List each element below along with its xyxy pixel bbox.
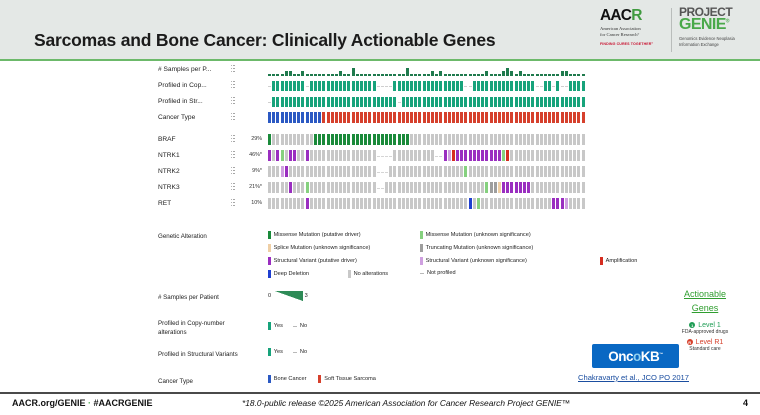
- oncoprint-cell[interactable]: [393, 198, 396, 209]
- oncoprint-cell[interactable]: [481, 74, 484, 76]
- oncoprint-cell[interactable]: [381, 172, 384, 173]
- oncoprint-cell[interactable]: [494, 97, 497, 107]
- oncoprint-cell[interactable]: [498, 112, 501, 123]
- oncoprint-cell[interactable]: [285, 134, 288, 145]
- oncoprint-cell[interactable]: [406, 68, 409, 76]
- oncoprint-cell[interactable]: [335, 198, 338, 209]
- oncoprint-cell[interactable]: [569, 150, 572, 161]
- oncoprint-cell[interactable]: [293, 81, 296, 91]
- oncoprint-cell[interactable]: [356, 198, 359, 209]
- oncoprint-cell[interactable]: [490, 74, 493, 76]
- oncoprint-cell[interactable]: [318, 182, 321, 193]
- oncoprint-cell[interactable]: [347, 74, 350, 76]
- oncoprint-cell[interactable]: [506, 112, 509, 123]
- oncoprint-cell[interactable]: [448, 134, 451, 145]
- oncoprint-cell[interactable]: [506, 166, 509, 177]
- oncoprint-cell[interactable]: [293, 74, 296, 76]
- oncoprint-cell[interactable]: [360, 112, 363, 123]
- oncoprint-cell[interactable]: [515, 134, 518, 145]
- oncoprint-cell[interactable]: [427, 182, 430, 193]
- oncoprint-cell[interactable]: [494, 150, 497, 161]
- oncoprint-cell[interactable]: [423, 198, 426, 209]
- oncoprint-cell[interactable]: [335, 74, 338, 76]
- oncoprint-cell[interactable]: [431, 166, 434, 177]
- oncoprint-cell[interactable]: [506, 81, 509, 91]
- oncoprint-cell[interactable]: [506, 68, 509, 76]
- oncoprint-cell[interactable]: [485, 182, 488, 193]
- oncoprint-cell[interactable]: [339, 71, 342, 76]
- oncoprint-cell[interactable]: [573, 150, 576, 161]
- oncoprint-cell[interactable]: [427, 74, 430, 76]
- drag-handle-icon[interactable]: [231, 199, 235, 208]
- oncoprint-cell[interactable]: [464, 74, 467, 76]
- oncoprint-cell[interactable]: [381, 112, 384, 123]
- drag-handle-icon[interactable]: [231, 135, 235, 144]
- oncoprint-cell[interactable]: [314, 74, 317, 76]
- oncoprint-cell[interactable]: [281, 112, 284, 123]
- oncoprint-cell[interactable]: [573, 166, 576, 177]
- oncoprint-cell[interactable]: [548, 150, 551, 161]
- oncoprint-cell[interactable]: [456, 166, 459, 177]
- oncoprint-cell[interactable]: [414, 112, 417, 123]
- oncoprint-cell[interactable]: [498, 182, 501, 193]
- oncoprint-cell[interactable]: [527, 166, 530, 177]
- oncoprint-cell[interactable]: [389, 97, 392, 107]
- oncoprint-cell[interactable]: [339, 112, 342, 123]
- oncoprint-cell[interactable]: [556, 166, 559, 177]
- oncoprint-cell[interactable]: [373, 182, 376, 193]
- gene-row-ntrk3-label[interactable]: NTRK3: [158, 184, 180, 191]
- oncoprint-cell[interactable]: [561, 134, 564, 145]
- oncoprint-cell[interactable]: [318, 134, 321, 145]
- oncoprint-cell[interactable]: [327, 150, 330, 161]
- oncoprint-cell[interactable]: [347, 112, 350, 123]
- oncoprint-cell[interactable]: [377, 134, 380, 145]
- oncoprint-cell[interactable]: [414, 166, 417, 177]
- oncoprint-cell[interactable]: [398, 134, 401, 145]
- oncoprint-cell[interactable]: [452, 182, 455, 193]
- oncoprint-cell[interactable]: [385, 156, 388, 157]
- oncoprint-cell[interactable]: [552, 112, 555, 123]
- oncoprint-cell[interactable]: [544, 134, 547, 145]
- oncoprint-cell[interactable]: [410, 112, 413, 123]
- oncoprint-cell[interactable]: [268, 74, 271, 76]
- oncoprint-cell[interactable]: [577, 134, 580, 145]
- oncoprint-cell[interactable]: [402, 182, 405, 193]
- oncoprint-cell[interactable]: [331, 74, 334, 76]
- oncoprint-cell[interactable]: [402, 74, 405, 76]
- oncoprint-cell[interactable]: [373, 112, 376, 123]
- oncoprint-cell[interactable]: [469, 86, 472, 87]
- oncoprint-cell[interactable]: [314, 182, 317, 193]
- legend-item[interactable]: Splice Mutation (unknown significance): [268, 244, 370, 252]
- oncoprint-cell[interactable]: [373, 150, 376, 161]
- oncoprint-cell[interactable]: [322, 134, 325, 145]
- oncoprint-cell[interactable]: [540, 182, 543, 193]
- oncoprint-cell[interactable]: [469, 166, 472, 177]
- oncoprint-cell[interactable]: [531, 97, 534, 107]
- oncoprint-cell[interactable]: [377, 86, 380, 87]
- oncoprint-cell[interactable]: [448, 81, 451, 91]
- oncoprint-cell[interactable]: [281, 182, 284, 193]
- oncoprint-cell[interactable]: [322, 112, 325, 123]
- oncoprint-cell[interactable]: [272, 74, 275, 76]
- oncoprint-cell[interactable]: [297, 134, 300, 145]
- oncoprint-cell[interactable]: [565, 134, 568, 145]
- oncoprint-cell[interactable]: [452, 81, 455, 91]
- oncoprint-cell[interactable]: [573, 97, 576, 107]
- oncoprint-cell[interactable]: [293, 112, 296, 123]
- oncoprint-cell[interactable]: [552, 134, 555, 145]
- oncoprint-cell[interactable]: [331, 112, 334, 123]
- oncoprint-cell[interactable]: [285, 112, 288, 123]
- oncoprint-cell[interactable]: [423, 182, 426, 193]
- oncoprint-cell[interactable]: [448, 182, 451, 193]
- oncoprint-cell[interactable]: [561, 71, 564, 76]
- oncoprint-cell[interactable]: [531, 134, 534, 145]
- oncoprint-cell[interactable]: [548, 112, 551, 123]
- oncoprint-cell[interactable]: [272, 182, 275, 193]
- oncoprint-cell[interactable]: [398, 182, 401, 193]
- oncoprint-cell[interactable]: [306, 150, 309, 161]
- oncoprint-cell[interactable]: [473, 182, 476, 193]
- oncoprint-cell[interactable]: [431, 97, 434, 107]
- oncoprint-cell[interactable]: [360, 198, 363, 209]
- oncoprint-cell[interactable]: [301, 97, 304, 107]
- oncoprint-cell[interactable]: [343, 150, 346, 161]
- oncoprint-cell[interactable]: [494, 182, 497, 193]
- oncoprint-cell[interactable]: [289, 134, 292, 145]
- oncoprint-cell[interactable]: [456, 134, 459, 145]
- oncoprint-cell[interactable]: [414, 182, 417, 193]
- oncoprint-cell[interactable]: [398, 150, 401, 161]
- oncoprint-cell[interactable]: [498, 150, 501, 161]
- oncoprint-cell[interactable]: [393, 182, 396, 193]
- oncoprint-cell[interactable]: [356, 112, 359, 123]
- oncoprint-cell[interactable]: [452, 97, 455, 107]
- drag-handle-icon[interactable]: [231, 81, 235, 90]
- oncoprint-cell[interactable]: [410, 81, 413, 91]
- oncoprint-cell[interactable]: [335, 97, 338, 107]
- oncoprint-cell[interactable]: [540, 97, 543, 107]
- oncoprint-cell[interactable]: [423, 150, 426, 161]
- oncoprint-cell[interactable]: [381, 188, 384, 189]
- oncoprint-cell[interactable]: [498, 74, 501, 76]
- oncoprint-cell[interactable]: [577, 166, 580, 177]
- oncoprint-cell[interactable]: [494, 198, 497, 209]
- oncoprint-cell[interactable]: [377, 156, 380, 157]
- oncoprint-cell[interactable]: [268, 112, 271, 123]
- oncoprint-cell[interactable]: [477, 182, 480, 193]
- oncoprint-cell[interactable]: [373, 97, 376, 107]
- oncoprint-cell[interactable]: [281, 81, 284, 91]
- oncoprint-cell[interactable]: [577, 81, 580, 91]
- oncoprint-cell[interactable]: [335, 112, 338, 123]
- oncoprint-cell[interactable]: [301, 150, 304, 161]
- oncoprint-cell[interactable]: [423, 166, 426, 177]
- oncoprint-cell[interactable]: [456, 74, 459, 76]
- oncoprint-cell[interactable]: [490, 112, 493, 123]
- oncoprint-cell[interactable]: [393, 134, 396, 145]
- oncoprint-cell[interactable]: [389, 134, 392, 145]
- oncoprint-cell[interactable]: [393, 150, 396, 161]
- gene-row-ret-cells[interactable]: [268, 196, 586, 210]
- oncoprint-cell[interactable]: [314, 150, 317, 161]
- oncoprint-cell[interactable]: [569, 166, 572, 177]
- oncoprint-cell[interactable]: [548, 74, 551, 76]
- oncoprint-cell[interactable]: [490, 81, 493, 91]
- oncoprint-cell[interactable]: [314, 97, 317, 107]
- oncoprint-cell[interactable]: [536, 74, 539, 76]
- oncoprint-cell[interactable]: [456, 198, 459, 209]
- oncoprint-cell[interactable]: [310, 198, 313, 209]
- oncoprint-cell[interactable]: [318, 74, 321, 76]
- oncoprint-cell[interactable]: [494, 134, 497, 145]
- oncoprint-cell[interactable]: [556, 134, 559, 145]
- oncoprint-cell[interactable]: [402, 198, 405, 209]
- oncoprint-cell[interactable]: [352, 150, 355, 161]
- oncoprint-cell[interactable]: [297, 74, 300, 76]
- oncoprint-cell[interactable]: [418, 182, 421, 193]
- oncoprint-cell[interactable]: [577, 112, 580, 123]
- legend-item[interactable]: Missense Mutation (unknown significance): [420, 231, 531, 239]
- oncoprint-cell[interactable]: [548, 182, 551, 193]
- oncoprint-cell[interactable]: [306, 198, 309, 209]
- oncoprint-cell[interactable]: [544, 97, 547, 107]
- oncoprint-cell[interactable]: [318, 166, 321, 177]
- legend-item[interactable]: Truncating Mutation (unknown significanc…: [420, 244, 533, 252]
- oncoprint-cell[interactable]: [439, 156, 442, 157]
- oncoprint-cell[interactable]: [435, 182, 438, 193]
- oncoprint-cell[interactable]: [318, 81, 321, 91]
- oncoprint-cell[interactable]: [540, 166, 543, 177]
- oncoprint-cell[interactable]: [347, 134, 350, 145]
- oncoprint-cell[interactable]: [577, 198, 580, 209]
- oncoprint-cell[interactable]: [573, 81, 576, 91]
- oncoprint-cell[interactable]: [527, 150, 530, 161]
- oncoprint-cell[interactable]: [398, 112, 401, 123]
- oncoprint-cell[interactable]: [310, 134, 313, 145]
- oncoprint-cell[interactable]: [573, 134, 576, 145]
- oncoprint-cell[interactable]: [448, 97, 451, 107]
- oncoprint-cell[interactable]: [285, 71, 288, 76]
- oncoprint-cell[interactable]: [565, 71, 568, 76]
- oncoprint-cell[interactable]: [281, 134, 284, 145]
- oncoprint-cell[interactable]: [356, 182, 359, 193]
- oncoprint-cell[interactable]: [460, 182, 463, 193]
- oncoprint-cell[interactable]: [285, 166, 288, 177]
- oncoprint-cell[interactable]: [506, 134, 509, 145]
- oncoprint-cell[interactable]: [343, 134, 346, 145]
- oncokb-logo[interactable]: OncoKB™: [592, 344, 679, 368]
- oncoprint-cell[interactable]: [473, 97, 476, 107]
- oncoprint-cell[interactable]: [293, 134, 296, 145]
- oncoprint-cell[interactable]: [523, 81, 526, 91]
- legend-item[interactable]: Amplification: [600, 257, 637, 265]
- oncoprint-cell[interactable]: [510, 134, 513, 145]
- oncoprint-cell[interactable]: [435, 198, 438, 209]
- oncoprint-cell[interactable]: [368, 97, 371, 107]
- oncoprint-cell[interactable]: [418, 112, 421, 123]
- oncoprint-cell[interactable]: [297, 81, 300, 91]
- oncoprint-cell[interactable]: [469, 198, 472, 209]
- oncoprint-cell[interactable]: [565, 86, 568, 87]
- oncoprint-cell[interactable]: [293, 182, 296, 193]
- oncoprint-cell[interactable]: [339, 166, 342, 177]
- oncoprint-cell[interactable]: [406, 182, 409, 193]
- oncoprint-cell[interactable]: [473, 112, 476, 123]
- oncoprint-cell[interactable]: [519, 71, 522, 76]
- oncoprint-cell[interactable]: [385, 198, 388, 209]
- oncoprint-cell[interactable]: [556, 198, 559, 209]
- oncoprint-cell[interactable]: [360, 182, 363, 193]
- oncoprint-cell[interactable]: [285, 150, 288, 161]
- oncoprint-cell[interactable]: [469, 134, 472, 145]
- oncoprint-cell[interactable]: [368, 134, 371, 145]
- oncoprint-cell[interactable]: [548, 97, 551, 107]
- oncoprint-cell[interactable]: [373, 74, 376, 76]
- oncoprint-cell[interactable]: [435, 74, 438, 76]
- oncoprint-cell[interactable]: [393, 74, 396, 76]
- oncoprint-cell[interactable]: [531, 182, 534, 193]
- oncoprint-cell[interactable]: [561, 112, 564, 123]
- oncoprint-cell[interactable]: [515, 182, 518, 193]
- oncoprint-cell[interactable]: [565, 112, 568, 123]
- oncoprint-cell[interactable]: [364, 97, 367, 107]
- oncoprint-cell[interactable]: [402, 112, 405, 123]
- oncoprint-cell[interactable]: [519, 150, 522, 161]
- oncoprint-cell[interactable]: [556, 97, 559, 107]
- oncoprint-cell[interactable]: [427, 134, 430, 145]
- oncoprint-cell[interactable]: [502, 150, 505, 161]
- oncoprint-cell[interactable]: [452, 112, 455, 123]
- oncoprint-cell[interactable]: [481, 182, 484, 193]
- oncoprint-cell[interactable]: [439, 182, 442, 193]
- oncoprint-cell[interactable]: [381, 97, 384, 107]
- footer-hashtag[interactable]: #AACRGENIE: [94, 398, 153, 408]
- oncoprint-cell[interactable]: [327, 97, 330, 107]
- oncoprint-cell[interactable]: [473, 166, 476, 177]
- oncoprint-cell[interactable]: [569, 198, 572, 209]
- oncoprint-cell[interactable]: [527, 81, 530, 91]
- oncoprint-cell[interactable]: [481, 134, 484, 145]
- oncoprint-cell[interactable]: [377, 97, 380, 107]
- oncoprint-cell[interactable]: [444, 182, 447, 193]
- oncoprint-cell[interactable]: [498, 81, 501, 91]
- oncoprint-cell[interactable]: [306, 74, 309, 76]
- oncoprint-cell[interactable]: [582, 166, 585, 177]
- oncoprint-cell[interactable]: [502, 97, 505, 107]
- oncoprint-cell[interactable]: [301, 166, 304, 177]
- oncoprint-cell[interactable]: [322, 81, 325, 91]
- oncoprint-cell[interactable]: [268, 86, 271, 87]
- oncoprint-cell[interactable]: [519, 166, 522, 177]
- oncoprint-cell[interactable]: [289, 71, 292, 76]
- oncoprint-cell[interactable]: [565, 166, 568, 177]
- oncoprint-cell[interactable]: [398, 102, 401, 103]
- oncoprint-cell[interactable]: [448, 74, 451, 76]
- oncoprint-cell[interactable]: [339, 150, 342, 161]
- oncoprint-cell[interactable]: [272, 134, 275, 145]
- oncoprint-cell[interactable]: [423, 112, 426, 123]
- oncoprint-cell[interactable]: [448, 112, 451, 123]
- oncoprint-cell[interactable]: [272, 166, 275, 177]
- oncoprint-cell[interactable]: [373, 198, 376, 209]
- oncoprint-cell[interactable]: [427, 81, 430, 91]
- oncoprint-cell[interactable]: [327, 81, 330, 91]
- oncoprint-cell[interactable]: [473, 134, 476, 145]
- oncoprint-cell[interactable]: [410, 198, 413, 209]
- oncoprint-cell[interactable]: [389, 112, 392, 123]
- oncoprint-cell[interactable]: [536, 112, 539, 123]
- oncoprint-cell[interactable]: [502, 81, 505, 91]
- oncoprint-cell[interactable]: [481, 112, 484, 123]
- oncoprint-cell[interactable]: [577, 182, 580, 193]
- gene-row-ret-label[interactable]: RET: [158, 200, 171, 207]
- oncoprint-cell[interactable]: [460, 97, 463, 107]
- oncoprint-cell[interactable]: [510, 81, 513, 91]
- oncoprint-cell[interactable]: [398, 198, 401, 209]
- oncoprint-cell[interactable]: [582, 97, 585, 107]
- oncoprint-cell[interactable]: [393, 97, 396, 107]
- oncoprint-cell[interactable]: [460, 81, 463, 91]
- oncoprint-cell[interactable]: [272, 97, 275, 107]
- track-cancer-type-label[interactable]: Cancer Type: [158, 114, 195, 121]
- oncoprint-cell[interactable]: [322, 182, 325, 193]
- oncoprint-cell[interactable]: [281, 150, 284, 161]
- oncoprint-cell[interactable]: [268, 182, 271, 193]
- oncoprint-cell[interactable]: [289, 112, 292, 123]
- profiled-sv-legend-values[interactable]: YesNo: [268, 348, 307, 356]
- oncoprint-cell[interactable]: [435, 156, 438, 157]
- oncoprint-cell[interactable]: [427, 166, 430, 177]
- oncoprint-cell[interactable]: [460, 166, 463, 177]
- oncoprint-cell[interactable]: [452, 166, 455, 177]
- oncoprint-cell[interactable]: [515, 74, 518, 76]
- oncoprint-cell[interactable]: [347, 182, 350, 193]
- oncoprint-cell[interactable]: [368, 182, 371, 193]
- oncoprint-cell[interactable]: [364, 150, 367, 161]
- oncoprint-cell[interactable]: [297, 150, 300, 161]
- oncoprint-cell[interactable]: [502, 198, 505, 209]
- oncoprint-cell[interactable]: [339, 81, 342, 91]
- oncoprint-cell[interactable]: [582, 182, 585, 193]
- oncoprint-cell[interactable]: [414, 150, 417, 161]
- oncoprint-cell[interactable]: [431, 81, 434, 91]
- oncoprint-cell[interactable]: [289, 198, 292, 209]
- oncoprint-cell[interactable]: [490, 134, 493, 145]
- oncoprint-cell[interactable]: [481, 150, 484, 161]
- oncoprint-cell[interactable]: [540, 134, 543, 145]
- oncoprint-cell[interactable]: [318, 97, 321, 107]
- oncoprint-cell[interactable]: [515, 150, 518, 161]
- oncoprint-cell[interactable]: [327, 74, 330, 76]
- oncoprint-cell[interactable]: [414, 74, 417, 76]
- oncoprint-cell[interactable]: [398, 81, 401, 91]
- oncoprint-cell[interactable]: [477, 166, 480, 177]
- oncoprint-cell[interactable]: [502, 166, 505, 177]
- oncoprint-cell[interactable]: [377, 172, 380, 173]
- oncoprint-cell[interactable]: [544, 198, 547, 209]
- oncoprint-cell[interactable]: [373, 134, 376, 145]
- oncoprint-cell[interactable]: [569, 182, 572, 193]
- oncoprint-cell[interactable]: [389, 166, 392, 177]
- oncoprint-cell[interactable]: [548, 134, 551, 145]
- oncoprint-cell[interactable]: [540, 112, 543, 123]
- oncoprint-cell[interactable]: [435, 166, 438, 177]
- oncoprint-cell[interactable]: [452, 198, 455, 209]
- oncoprint-cell[interactable]: [360, 97, 363, 107]
